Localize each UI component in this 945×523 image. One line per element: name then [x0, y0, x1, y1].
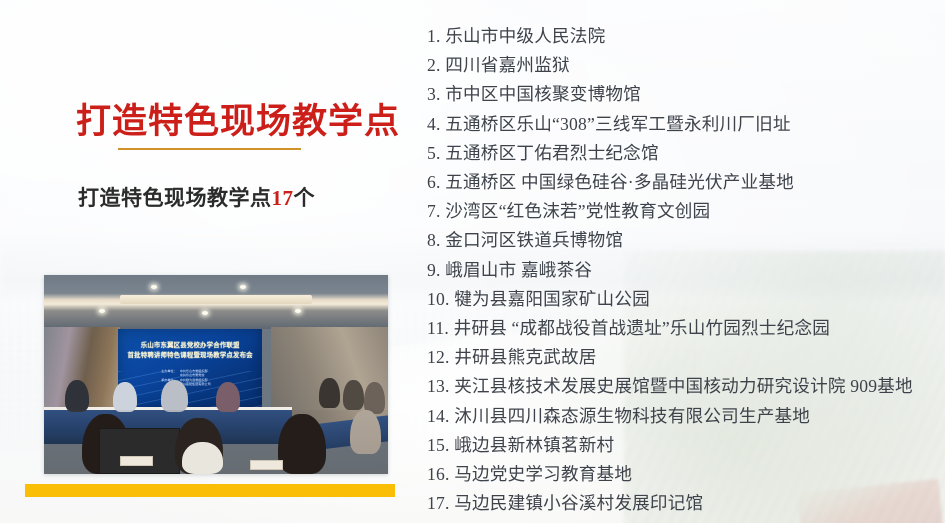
list-item: 3. 市中区中国核聚变博物馆 [427, 80, 927, 109]
list-item: 8. 金口河区铁道兵博物馆 [427, 226, 927, 255]
list-item-label: 五通桥区 中国绿色硅谷·多晶硅光伏产业基地 [445, 172, 794, 192]
list-item-label: 马边民建镇小谷溪村发展印记馆 [454, 493, 703, 513]
list-item-label: 金口河区铁道兵博物馆 [445, 230, 623, 250]
list-item-label: 沙湾区“红色沫若”党性教育文创园 [445, 201, 710, 221]
title-block: 打造特色现场教学点 [76, 103, 406, 140]
photo-ceiling-light [151, 285, 157, 289]
list-item-number: 15. [427, 435, 450, 455]
photo-ceiling-light [295, 309, 301, 313]
list-item-number: 16. [427, 464, 450, 484]
list-item-label: 四川省嘉州监狱 [445, 55, 570, 75]
photo-led-screen: 乐山市东翼区县党校办学合作联盟 首批特聘讲师特色课程暨现场教学点发布会 主办单位… [118, 329, 262, 409]
photo-banner-text: 乐山市东翼区县党校办学合作联盟 首批特聘讲师特色课程暨现场教学点发布会 [124, 341, 257, 361]
list-item-number: 17. [427, 493, 450, 513]
list-item: 6. 五通桥区 中国绿色硅谷·多晶硅光伏产业基地 [427, 168, 927, 197]
subtitle-suffix: 个 [294, 186, 316, 210]
photo-ceiling-light [202, 311, 208, 315]
photo-foreground-person-shirt [182, 442, 223, 474]
photo-ceiling [44, 275, 388, 329]
list-item-label: 乐山市中级人民法院 [445, 26, 605, 46]
title-underline-rule [118, 148, 301, 150]
list-item-label: 峨眉山市 嘉峨茶谷 [445, 260, 592, 280]
list-item: 12. 井研县熊克武故居 [427, 343, 927, 372]
list-item-label: 峨边县新林镇茗新村 [454, 435, 614, 455]
list-item: 5. 五通桥区丁佑君烈士纪念馆 [427, 139, 927, 168]
photo-panelist [113, 382, 137, 412]
list-item-label: 井研县 “成都战役首战遗址”乐山竹园烈士纪念园 [454, 318, 831, 338]
photo-ceiling-light [240, 285, 246, 289]
photo-banner-line2: 首批特聘讲师特色课程暨现场教学点发布会 [124, 351, 257, 361]
list-item-number: 1. [427, 26, 441, 46]
slide-canvas: 打造特色现场教学点 打造特色现场教学点17个 乐山市东翼区县党校办学合作联盟 首… [0, 0, 945, 523]
list-item: 10. 犍为县嘉阳国家矿山公园 [427, 285, 927, 314]
list-item-number: 7. [427, 201, 441, 221]
list-item: 11. 井研县 “成都战役首战遗址”乐山竹园烈士纪念园 [427, 314, 927, 343]
list-item: 1. 乐山市中级人民法院 [427, 22, 927, 51]
list-item-number: 5. [427, 143, 441, 163]
gold-accent-bar [25, 484, 395, 497]
list-item-label: 井研县熊克武故居 [454, 347, 596, 367]
photo-banner-line1: 乐山市东翼区县党校办学合作联盟 [124, 341, 257, 351]
list-item-label: 夹江县核技术发展史展馆暨中国核动力研究设计院 909基地 [454, 376, 913, 396]
list-item: 4. 五通桥区乐山“308”三线军工暨永利川厂旧址 [427, 110, 927, 139]
list-item-number: 12. [427, 347, 450, 367]
list-item: 14. 沐川县四川森态源生物科技有限公司生产基地 [427, 402, 927, 431]
photo-monitor [99, 428, 180, 474]
list-item-number: 11. [427, 318, 449, 338]
photo-audience [343, 380, 364, 410]
photo-nameplate [120, 456, 153, 466]
list-item: 9. 峨眉山市 嘉峨茶谷 [427, 256, 927, 285]
list-item-number: 3. [427, 84, 441, 104]
conference-photo: 乐山市东翼区县党校办学合作联盟 首批特聘讲师特色课程暨现场教学点发布会 主办单位… [44, 275, 388, 474]
list-item: 17. 马边民建镇小谷溪村发展印记馆 [427, 489, 927, 518]
list-item: 16. 马边党史学习教育基地 [427, 460, 927, 489]
photo-ceiling-light [99, 309, 105, 313]
list-item-label: 马边党史学习教育基地 [454, 464, 632, 484]
subtitle-count: 17 [272, 186, 294, 210]
list-item-label: 沐川县四川森态源生物科技有限公司生产基地 [454, 406, 810, 426]
subtitle-prefix: 打造特色现场教学点 [78, 186, 272, 210]
list-item: 7. 沙湾区“红色沫若”党性教育文创园 [427, 197, 927, 226]
photo-nameplate [250, 460, 283, 470]
page-title: 打造特色现场教学点 [76, 103, 406, 140]
photo-foreground-person [278, 414, 326, 474]
list-item-number: 8. [427, 230, 441, 250]
list-item-label: 五通桥区丁佑君烈士纪念馆 [445, 143, 659, 163]
list-item-number: 13. [427, 376, 450, 396]
photo-panelist [161, 380, 189, 412]
subtitle: 打造特色现场教学点17个 [78, 186, 315, 211]
list-item-number: 6. [427, 172, 441, 192]
list-item: 13. 夹江县核技术发展史展馆暨中国核动力研究设计院 909基地 [427, 372, 927, 401]
list-item-label: 犍为县嘉阳国家矿山公园 [454, 289, 650, 309]
list-item-label: 市中区中国核聚变博物馆 [445, 84, 641, 104]
photo-audience [319, 378, 340, 408]
list-item-number: 10. [427, 289, 450, 309]
list-item-number: 4. [427, 114, 441, 134]
list-item-number: 2. [427, 55, 441, 75]
photo-banner-credits: 主办单位：承办单位： 中共乐山市委组织部中共乐山市委党校中共犍为县委组织部四川嘉… [150, 369, 231, 388]
photo-panelist [216, 382, 240, 412]
photo-panelist [65, 380, 89, 412]
teaching-site-list: 1. 乐山市中级人民法院2. 四川省嘉州监狱3. 市中区中国核聚变博物馆4. 五… [427, 22, 927, 518]
list-item-label: 五通桥区乐山“308”三线军工暨永利川厂旧址 [445, 114, 791, 134]
list-item-number: 14. [427, 406, 450, 426]
list-item: 2. 四川省嘉州监狱 [427, 51, 927, 80]
list-item-number: 9. [427, 260, 441, 280]
list-item: 15. 峨边县新林镇茗新村 [427, 431, 927, 460]
